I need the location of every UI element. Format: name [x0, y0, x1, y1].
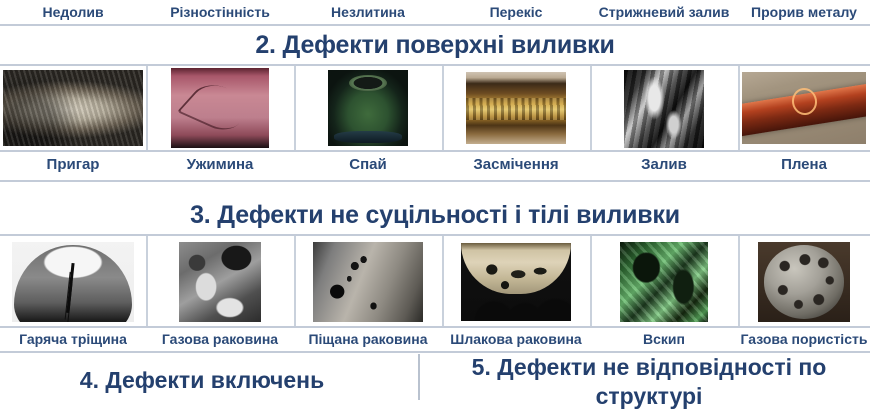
column-separator-3-3 [442, 236, 444, 326]
caption-hot-crack: Гаряча тріщина [0, 329, 146, 349]
photo-cell-slag-cavity[interactable] [442, 236, 590, 324]
column-separator-2-1 [146, 66, 148, 150]
column-separator-3-2 [294, 236, 296, 326]
caption-plena: Плена [738, 154, 870, 176]
section-title-3: 3. Дефекти не суцільності і тілі виливки [0, 200, 870, 230]
caption-nezlytyna: Незлитина [294, 2, 442, 22]
photo-cell-uzhymyna[interactable] [146, 66, 294, 148]
photo-cell-vskyp[interactable] [590, 236, 738, 324]
column-separator-2-4 [590, 66, 592, 150]
photo-cell-plena[interactable] [738, 66, 870, 148]
photo-cell-prygar[interactable] [0, 66, 146, 148]
caption-prygar: Пригар [0, 154, 146, 176]
gas-porosity-disc-photo[interactable] [758, 242, 850, 322]
section-title-5: 5. Дефекти не відповідності по структурі [440, 353, 858, 411]
defect-captions-row-3: Гаряча тріщина Газова раковина Піщана ра… [0, 329, 870, 349]
divider-rule-4 [0, 180, 870, 182]
caption-zasmichennya: Засмічення [442, 154, 590, 176]
spay-green-casting-photo[interactable] [328, 70, 408, 146]
defect-captions-row-2: Пригар Ужимина Спай Засмічення Залив Пле… [0, 154, 870, 176]
caption-vskyp: Вскип [590, 329, 738, 349]
caption-stryzhnevyi-zalyv: Стрижневий залив [590, 2, 738, 22]
photo-cell-gas-cavity[interactable] [146, 236, 294, 324]
hot-crack-ring-photo[interactable] [12, 242, 134, 322]
caption-spay: Спай [294, 154, 442, 176]
uzhymyna-pink-surface-photo[interactable] [171, 68, 269, 148]
photo-cell-sand-cavity[interactable] [294, 236, 442, 324]
divider-rule-1 [0, 24, 870, 26]
caption-sand-cavity: Піщана раковина [294, 329, 442, 349]
caption-nedolyv: Недолив [0, 2, 146, 22]
caption-proryv-metalu: Прорив металу [738, 2, 870, 22]
caption-riznostinnist: Різностінність [146, 2, 294, 22]
vskyp-green-casting-photo[interactable] [620, 242, 708, 322]
defect-catalog-page: Недолив Різностінність Незлитина Перекіс… [0, 0, 870, 400]
photo-cell-spay[interactable] [294, 66, 442, 148]
section-title-2: 2. Дефекти поверхні виливки [0, 30, 870, 60]
column-separator-2-3 [442, 66, 444, 150]
photo-cell-hot-crack[interactable] [0, 236, 146, 324]
photo-cell-zasmichennya[interactable] [442, 66, 590, 148]
caption-uzhymyna: Ужимина [146, 154, 294, 176]
gas-cavity-photo[interactable] [179, 242, 261, 322]
slag-cavity-gear-photo[interactable] [461, 243, 571, 321]
caption-slag-cavity: Шлакова раковина [442, 329, 590, 349]
divider-rule-3 [0, 150, 870, 152]
caption-perekis: Перекіс [442, 2, 590, 22]
caption-gas-cavity: Газова раковина [146, 329, 294, 349]
zasmichennya-gold-bar-photo[interactable] [466, 72, 566, 144]
section-title-4: 4. Дефекти включень [0, 366, 404, 394]
divider-rule-6 [0, 326, 870, 328]
column-separator-3-1 [146, 236, 148, 326]
caption-zalyv: Залив [590, 154, 738, 176]
column-separator-2-2 [294, 66, 296, 150]
bottom-section-separator [418, 354, 420, 400]
photo-cell-zalyv[interactable] [590, 66, 738, 148]
photo-cell-gas-porosity[interactable] [738, 236, 870, 324]
column-separator-2-5 [738, 66, 740, 150]
plena-copper-rod-photo[interactable] [742, 72, 866, 144]
prygar-rough-surface-photo[interactable] [3, 70, 143, 146]
column-separator-3-5 [738, 236, 740, 326]
caption-gas-porosity: Газова пористість [738, 329, 870, 349]
zalyv-dark-metal-photo[interactable] [624, 70, 704, 148]
defect-captions-row-1: Недолив Різностінність Незлитина Перекіс… [0, 2, 870, 22]
column-separator-3-4 [590, 236, 592, 326]
sand-cavity-photo[interactable] [313, 242, 423, 322]
